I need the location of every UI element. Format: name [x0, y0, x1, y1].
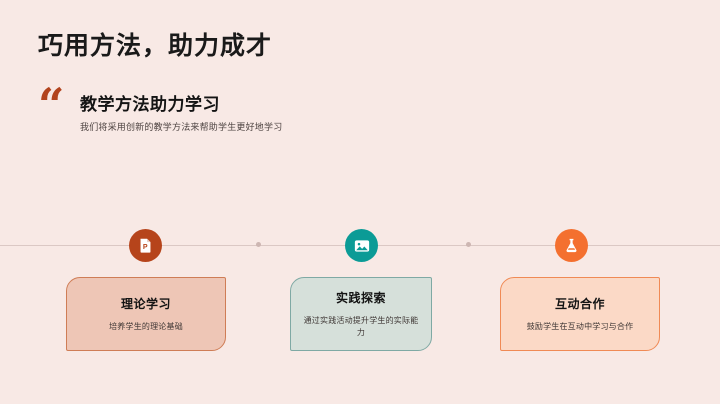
card-title: 互动合作: [555, 295, 605, 312]
image-photo-icon[interactable]: [345, 229, 378, 262]
powerpoint-document-icon[interactable]: P: [129, 229, 162, 262]
card-description: 通过实践活动提升学生的实际能力: [301, 315, 421, 339]
card-theory-learning[interactable]: 理论学习 培养学生的理论基础: [66, 277, 226, 351]
page-title: 巧用方法，助力成才: [38, 26, 272, 62]
card-description: 培养学生的理论基础: [109, 321, 183, 333]
svg-text:P: P: [143, 243, 148, 251]
quote-mark-icon: “: [38, 82, 64, 128]
slide-canvas: 巧用方法，助力成才 “ 教学方法助力学习 我们将采用创新的教学方法来帮助学生更好…: [0, 0, 720, 404]
card-title: 理论学习: [121, 295, 171, 312]
timeline-dot-1: [256, 242, 261, 247]
card-title: 实践探索: [336, 289, 386, 306]
quote-heading: 教学方法助力学习: [80, 90, 220, 115]
timeline-dot-2: [466, 242, 471, 247]
card-description: 鼓励学生在互动中学习与合作: [527, 321, 634, 333]
quote-subtitle: 我们将采用创新的教学方法来帮助学生更好地学习: [80, 120, 282, 133]
flask-beaker-icon[interactable]: [555, 229, 588, 262]
card-interactive-cooperation[interactable]: 互动合作 鼓励学生在互动中学习与合作: [500, 277, 660, 351]
card-practice-exploration[interactable]: 实践探索 通过实践活动提升学生的实际能力: [290, 277, 432, 351]
